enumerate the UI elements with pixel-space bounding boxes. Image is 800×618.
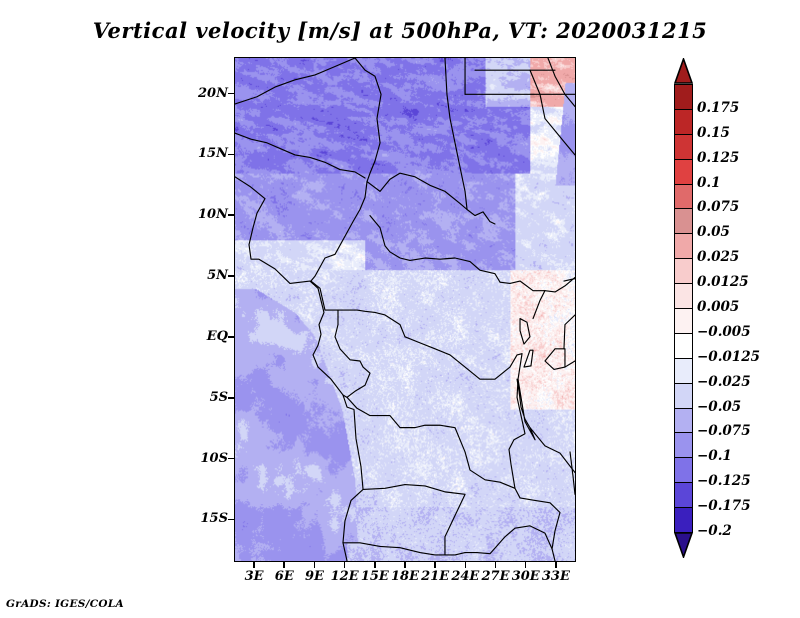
colorbar-tick-label: 0.1 xyxy=(697,175,721,191)
colorbar-tick-label: 0.025 xyxy=(697,249,739,265)
y-tick-label: EQ xyxy=(190,329,228,344)
y-tick-label: 15S xyxy=(190,511,228,526)
colorbar-segment xyxy=(674,134,693,160)
colorbar-min-arrow xyxy=(674,532,693,558)
colorbar-tick-label: 0.175 xyxy=(697,100,739,116)
colorbar-segment xyxy=(674,208,693,234)
x-tick-mark xyxy=(344,562,346,568)
colorbar-tick-label: 0.0125 xyxy=(697,274,749,290)
colorbar-segment xyxy=(674,507,693,533)
y-tick-label: 10S xyxy=(190,451,228,466)
colorbar-tick-label: −0.125 xyxy=(697,473,751,489)
colorbar[interactable] xyxy=(674,84,693,532)
x-tick-mark xyxy=(465,562,467,568)
colorbar-segment xyxy=(674,184,693,210)
colorbar-segment xyxy=(674,308,693,334)
colorbar-tick-label: −0.2 xyxy=(697,523,732,539)
colorbar-tick-label: 0.125 xyxy=(697,150,739,166)
colorbar-segment xyxy=(674,159,693,185)
colorbar-tick-label: −0.075 xyxy=(697,423,751,439)
attribution-footer: GrADS: IGES/COLA xyxy=(6,598,124,610)
y-tick-label: 10N xyxy=(190,207,228,222)
colorbar-segment xyxy=(674,358,693,384)
colorbar-segment xyxy=(674,258,693,284)
y-tick-mark xyxy=(228,519,234,521)
x-tick-mark xyxy=(314,562,316,568)
page-title: Vertical velocity [m/s] at 500hPa, VT: 2… xyxy=(0,18,800,43)
colorbar-segment xyxy=(674,84,693,110)
colorbar-tick-label: −0.025 xyxy=(697,374,751,390)
y-tick-mark xyxy=(228,154,234,156)
x-tick-mark xyxy=(434,562,436,568)
x-tick-mark xyxy=(253,562,255,568)
y-tick-label: 5S xyxy=(190,390,228,405)
colorbar-segment xyxy=(674,333,693,359)
vertical-velocity-heatmap xyxy=(235,58,575,561)
colorbar-tick-label: −0.175 xyxy=(697,498,751,514)
colorbar-tick-label: −0.005 xyxy=(697,324,751,340)
y-tick-mark xyxy=(228,214,234,216)
colorbar-segment xyxy=(674,432,693,458)
colorbar-segment xyxy=(674,233,693,259)
colorbar-segment xyxy=(674,109,693,135)
colorbar-tick-label: −0.0125 xyxy=(697,349,760,365)
x-tick-mark xyxy=(283,562,285,568)
colorbar-tick-label: −0.05 xyxy=(697,399,741,415)
colorbar-tick-label: 0.15 xyxy=(697,125,730,141)
y-tick-mark xyxy=(228,336,234,338)
x-tick-mark xyxy=(404,562,406,568)
colorbar-tick-label: 0.075 xyxy=(697,199,739,215)
colorbar-tick-label: 0.005 xyxy=(697,299,739,315)
map-plot-area[interactable] xyxy=(234,57,576,562)
colorbar-segment xyxy=(674,457,693,483)
y-tick-label: 5N xyxy=(190,268,228,283)
colorbar-max-arrow xyxy=(674,58,693,84)
y-tick-mark xyxy=(228,93,234,95)
colorbar-segment xyxy=(674,383,693,409)
x-tick-mark xyxy=(525,562,527,568)
y-tick-label: 15N xyxy=(190,146,228,161)
x-tick-label: 33E xyxy=(536,569,576,584)
colorbar-tick-label: 0.05 xyxy=(697,224,730,240)
y-tick-mark xyxy=(228,275,234,277)
x-tick-mark xyxy=(495,562,497,568)
y-tick-mark xyxy=(228,458,234,460)
colorbar-segment xyxy=(674,482,693,508)
x-tick-mark xyxy=(555,562,557,568)
x-tick-mark xyxy=(374,562,376,568)
colorbar-tick-label: −0.1 xyxy=(697,448,732,464)
colorbar-segment xyxy=(674,408,693,434)
y-tick-mark xyxy=(228,397,234,399)
y-tick-label: 20N xyxy=(190,86,228,101)
colorbar-segment xyxy=(674,283,693,309)
